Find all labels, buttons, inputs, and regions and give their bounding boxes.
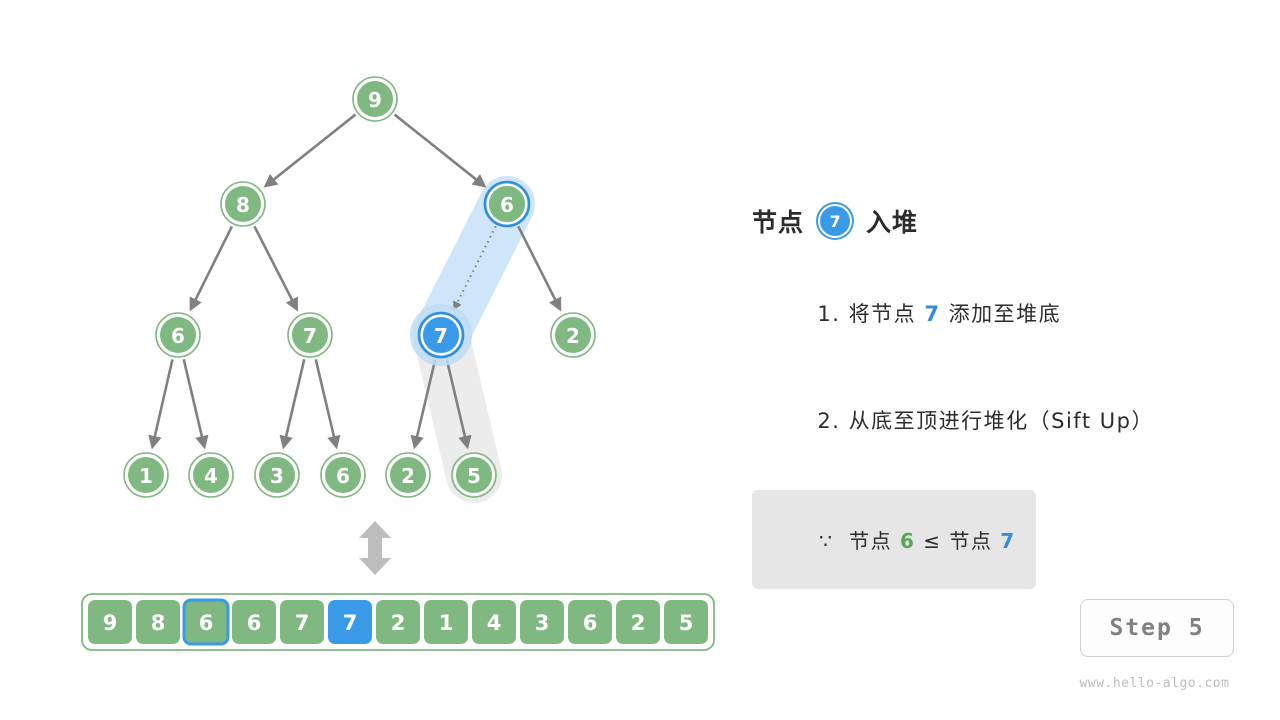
condition-left-label: 节点	[849, 529, 892, 553]
array-cell-value: 5	[679, 611, 694, 635]
tree-node-label: 6	[500, 193, 514, 217]
tree-edge	[191, 226, 232, 309]
panel-title-prefix: 节点	[752, 203, 804, 239]
array-cell-11: 2	[616, 600, 660, 644]
step-1-number: 1.	[817, 302, 840, 326]
tree-node-label: 8	[236, 193, 250, 217]
tree-edge	[266, 115, 356, 186]
tree-node-label: 4	[204, 464, 218, 488]
panel-title-suffix: 入堆	[866, 203, 918, 239]
array-cell-6: 2	[376, 600, 420, 644]
array-cell-value: 7	[295, 611, 310, 635]
condition-operator: ≤	[923, 529, 941, 553]
tree-edge	[184, 359, 205, 446]
tree-node-7-n4: 7	[288, 313, 332, 357]
tree-node-6-n3: 6	[156, 313, 200, 357]
condition-box: ∵ 节点 6 ≤ 节点 7	[752, 490, 1036, 589]
step-2-pre: 从底至顶进行堆化（Sift Up）	[849, 409, 1154, 433]
tree-node-5-n12: 5	[452, 453, 496, 497]
tree-edge	[395, 115, 485, 186]
tree-edge	[254, 226, 296, 309]
array-cell-4: 7	[280, 600, 324, 644]
array-cell-value: 8	[151, 611, 166, 635]
tree-edge	[284, 359, 305, 446]
array-cell-8: 4	[472, 600, 516, 644]
array-cell-value: 7	[343, 611, 358, 635]
condition-right-value: 7	[1000, 529, 1015, 553]
tree-node-3-n9: 3	[255, 453, 299, 497]
tree-node-4-n8: 4	[189, 453, 233, 497]
panel-title-badge: 7	[820, 206, 850, 236]
tree-edge	[518, 226, 560, 309]
step-1-highlight: 7	[924, 302, 940, 326]
step-2-number: 2.	[817, 409, 840, 433]
tree-node-label: 6	[171, 324, 185, 348]
tree-array-link-arrow	[359, 521, 391, 575]
tree-node-label: 2	[401, 464, 415, 488]
because-symbol: ∵	[819, 529, 833, 553]
step-badge: Step 5	[1080, 599, 1234, 657]
array-cell-2: 6	[184, 600, 228, 644]
tree-node-2-n6: 2	[551, 313, 595, 357]
tree-node-9-n0: 9	[353, 77, 397, 121]
tree-edge	[152, 359, 172, 446]
array-cell-0: 9	[88, 600, 132, 644]
tree-nodes: 9866772143625	[124, 77, 595, 497]
array-cell-12: 5	[664, 600, 708, 644]
panel-title: 节点 7 入堆	[752, 198, 1232, 244]
tree-node-label: 2	[566, 324, 580, 348]
step-1-post: 添加至堆底	[949, 302, 1062, 326]
array-cell-value: 4	[487, 611, 502, 635]
step-list: 1. 将节点 7 添加至堆底 2. 从底至顶进行堆化（Sift Up）	[752, 274, 1232, 459]
array-cell-value: 3	[535, 611, 550, 635]
tree-node-label: 1	[139, 464, 153, 488]
array-cell-value: 2	[631, 611, 646, 635]
tree-node-label: 6	[336, 464, 350, 488]
tree-edge	[316, 359, 337, 446]
array-cell-value: 9	[103, 611, 118, 635]
step-item-1: 1. 将节点 7 添加至堆底	[752, 274, 1232, 352]
tree-array-link-arrow	[359, 521, 391, 575]
explanation-panel: 节点 7 入堆 1. 将节点 7 添加至堆底 2. 从底至顶进行堆化（Sift …	[752, 198, 1232, 589]
array-cell-value: 1	[439, 611, 454, 635]
tree-node-label: 9	[368, 88, 382, 112]
step-item-2: 2. 从底至顶进行堆化（Sift Up）	[752, 381, 1232, 459]
array-cell-7: 1	[424, 600, 468, 644]
tree-node-2-n11: 2	[386, 453, 430, 497]
array-cell-value: 6	[199, 611, 214, 635]
array-cell-value: 6	[583, 611, 598, 635]
tree-node-6-n2: 6	[485, 182, 529, 226]
step-1-pre: 将节点	[849, 302, 917, 326]
array-cell-5: 7	[328, 600, 372, 644]
tree-node-8-n1: 8	[221, 182, 265, 226]
tree-node-label: 7	[434, 324, 448, 348]
tree-node-6-n10: 6	[321, 453, 365, 497]
tree-node-label: 3	[270, 464, 284, 488]
diagram-canvas: 9866772143625 9866772143625 节点 7 入堆 1. 将…	[0, 0, 1280, 720]
condition-left-value: 6	[900, 529, 915, 553]
watermark: www.hello-algo.com	[1072, 676, 1237, 691]
array-cell-3: 6	[232, 600, 276, 644]
array-cell-9: 3	[520, 600, 564, 644]
condition-right-label: 节点	[949, 529, 992, 553]
tree-node-label: 7	[303, 324, 317, 348]
array-cell-1: 8	[136, 600, 180, 644]
tree-node-1-n7: 1	[124, 453, 168, 497]
array-representation: 9866772143625	[82, 594, 714, 650]
tree-node-label: 5	[467, 464, 481, 488]
tree-node-7-n5: 7	[419, 313, 463, 357]
array-cell-value: 2	[391, 611, 406, 635]
array-cell-value: 6	[247, 611, 262, 635]
array-cell-10: 6	[568, 600, 612, 644]
